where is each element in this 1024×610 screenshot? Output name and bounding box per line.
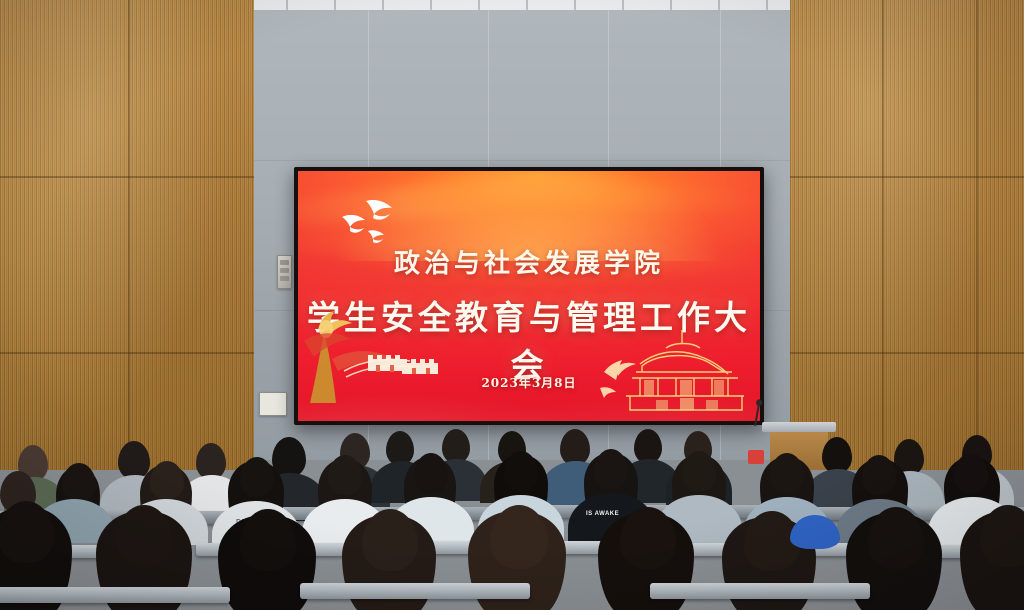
person-head	[560, 429, 590, 465]
person-head	[116, 505, 172, 567]
person-head	[442, 429, 470, 463]
person-head	[868, 507, 924, 569]
person-cap-icon	[790, 515, 840, 549]
person-head	[362, 509, 418, 571]
person-head	[594, 449, 628, 489]
person-head	[862, 455, 896, 495]
person-head	[196, 443, 226, 479]
person-head	[62, 463, 96, 501]
wood-panel-left	[0, 0, 254, 470]
person-head	[620, 507, 676, 569]
wall-notice-sign	[259, 392, 287, 416]
seat-back	[650, 583, 870, 599]
person-head	[770, 453, 804, 493]
person-head	[118, 441, 150, 479]
seat-back	[0, 587, 230, 603]
great-wall-torch-icon	[302, 307, 472, 417]
led-display-screen: 政治与社会发展学院 学生安全教育与管理工作大会 2023年3月8日	[294, 167, 764, 425]
audience-area: DESIGN IS AWAKE	[0, 415, 1024, 610]
wood-panel-right	[790, 0, 1024, 470]
wall-control-panel-left[interactable]	[277, 255, 292, 289]
photo-scene: 政治与社会发展学院 学生安全教育与管理工作大会 2023年3月8日	[0, 0, 1024, 610]
person-head	[682, 451, 716, 491]
person-head	[240, 509, 296, 571]
person-head	[822, 437, 852, 473]
seat-back	[300, 583, 530, 599]
person-head	[954, 453, 988, 493]
person-head	[504, 451, 538, 491]
person-head	[414, 453, 448, 493]
person-head	[150, 461, 184, 499]
tiananmen-gate-icon	[596, 324, 756, 419]
person-head	[634, 429, 662, 463]
apparel-text: IS AWAKE	[586, 511, 619, 517]
person-head	[240, 457, 274, 497]
person-head	[328, 455, 362, 495]
person-head	[386, 431, 414, 465]
organization-title: 政治与社会发展学院	[298, 243, 760, 280]
